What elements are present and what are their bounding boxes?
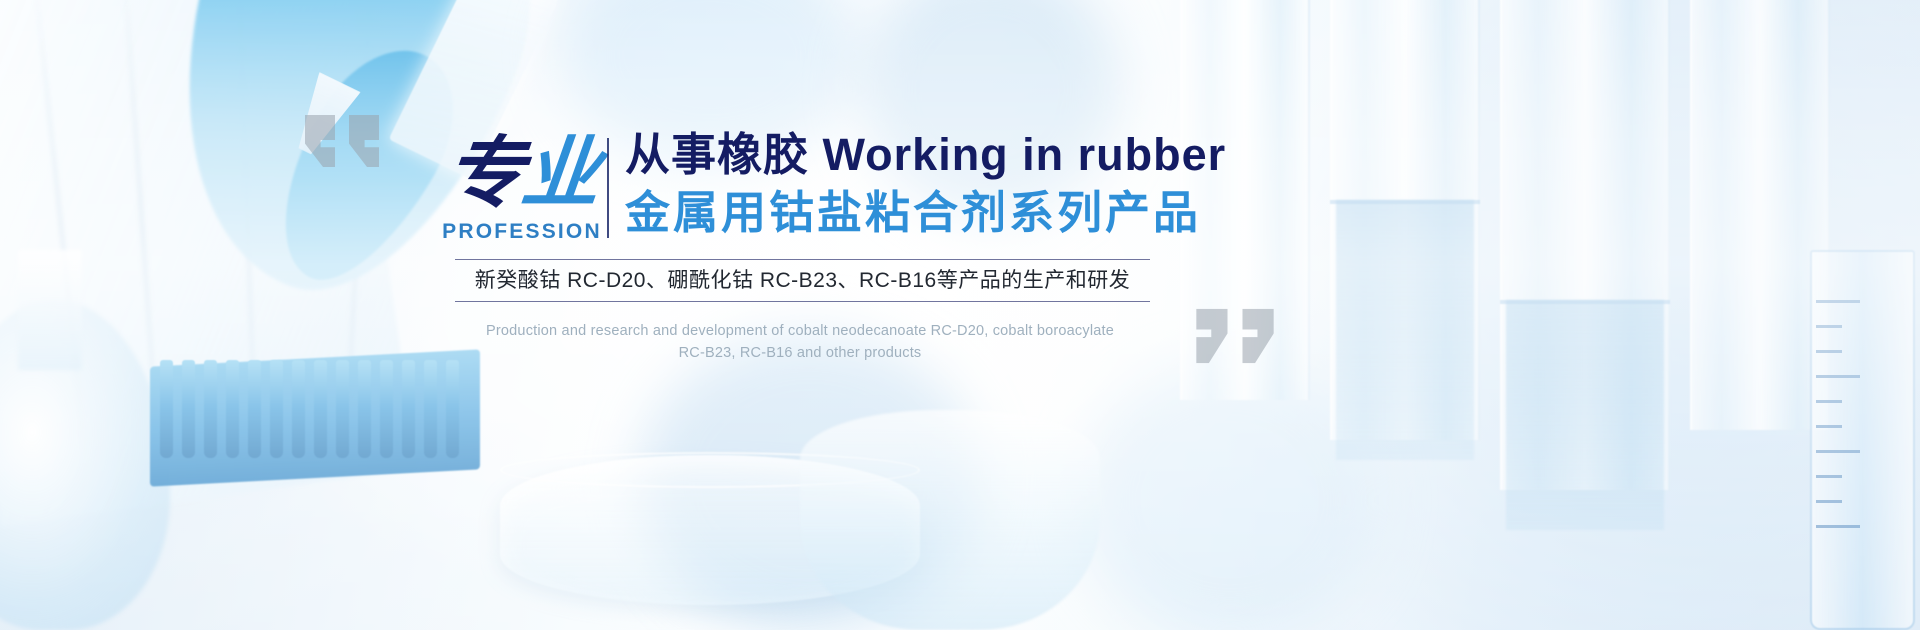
subtitle-text: 新癸酸钴 RC-D20、硼酰化钴 RC-B23、RC-B16等产品的生产和研发 [455,264,1150,298]
banner-content: 专业 PROFESSION 从事橡胶 Working in rubber 金属用… [0,0,1920,630]
subtitle-rule-bottom [455,301,1150,302]
close-quote-icon [1196,309,1274,364]
caption-line-1: Production and research and development … [440,320,1160,342]
open-quote-mark-left [305,115,335,167]
logo-char-zhuan: 专 [441,130,526,216]
caption-line-2: RC-B23, RC-B16 and other products [440,342,1160,364]
hero-banner: 专业 PROFESSION 从事橡胶 Working in rubber 金属用… [0,0,1920,630]
headline-block: 从事橡胶 Working in rubber 金属用钴盐粘合剂系列产品 [625,128,1185,240]
headline-line-1: 从事橡胶 Working in rubber [625,128,1185,182]
close-quote-mark-left [1196,309,1228,364]
logo-headline-divider [607,138,609,238]
profession-logo: 专业 PROFESSION [442,130,602,244]
close-quote-mark-right [1242,309,1274,364]
logo-chinese-characters: 专业 [442,130,602,216]
open-quote-icon [305,115,379,167]
logo-char-ye: 业 [517,130,602,216]
subtitle-rule-top [455,259,1150,260]
english-caption: Production and research and development … [440,320,1160,364]
headline-line-2: 金属用钴盐粘合剂系列产品 [625,186,1185,240]
open-quote-mark-right [349,115,379,167]
logo-english-word: PROFESSION [442,220,602,244]
